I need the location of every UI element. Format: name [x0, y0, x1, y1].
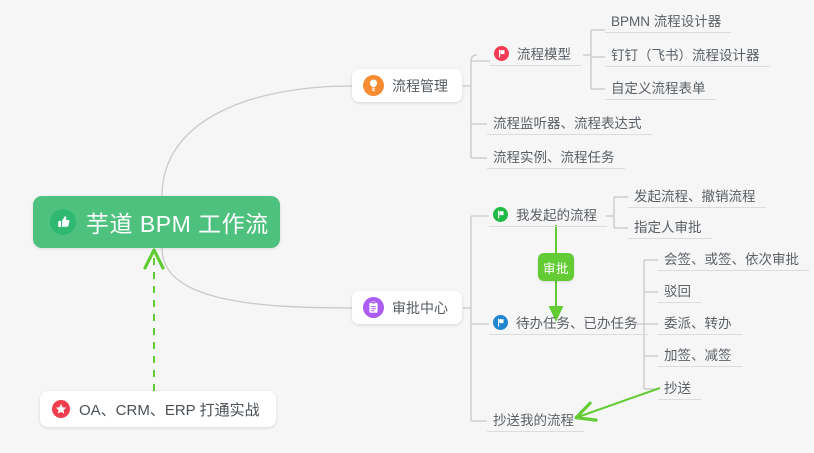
leaf-label-process-listener: 流程监听器、流程表达式: [493, 112, 642, 132]
leaf-add-remove-sign[interactable]: 加签、减签: [658, 345, 742, 367]
leaf-label-delegate-transfer: 委派、转办: [664, 312, 732, 332]
wire-process-c1: [471, 55, 490, 61]
leaf-dingtalk-designer[interactable]: 钉钉（飞书）流程设计器: [605, 45, 770, 67]
star-icon: [52, 400, 70, 418]
leaf-delegate-transfer[interactable]: 委派、转办: [658, 313, 742, 335]
leaf-label-process-model: 流程模型: [517, 43, 571, 63]
mindmap-canvas: 芋道 BPM 工作流 流程管理 审批中心: [0, 0, 814, 453]
lightbulb-icon: [363, 75, 384, 96]
clipboard-icon: [363, 297, 384, 318]
leaf-reject[interactable]: 驳回: [658, 281, 701, 303]
leaf-label-start-cancel-process: 发起流程、撤销流程: [634, 185, 756, 205]
leaf-label-add-remove-sign: 加签、减签: [664, 344, 732, 364]
approval-flow-pill-label: 审批: [543, 258, 569, 277]
leaf-assignee-approval[interactable]: 指定人审批: [628, 217, 712, 239]
leaf-label-process-instance: 流程实例、流程任务: [493, 146, 615, 166]
leaf-bpmn-designer[interactable]: BPMN 流程设计器: [605, 11, 731, 33]
leaf-label-countersign: 会签、或签、依次审批: [664, 248, 799, 268]
leaf-process-listener[interactable]: 流程监听器、流程表达式: [487, 113, 652, 135]
leaf-todo-done-tasks[interactable]: 待办任务、已办任务: [489, 313, 648, 335]
branch-label-process-management: 流程管理: [392, 76, 448, 96]
leaf-cc-my-process[interactable]: 抄送我的流程: [487, 410, 584, 432]
branch-label-approval-center: 审批中心: [392, 298, 448, 318]
leaf-label-assignee-approval: 指定人审批: [634, 216, 702, 236]
wire-green-cc: [578, 388, 660, 417]
leaf-cc[interactable]: 抄送: [658, 378, 701, 400]
leaf-start-cancel-process[interactable]: 发起流程、撤销流程: [628, 186, 766, 208]
leaf-my-started-process[interactable]: 我发起的流程: [489, 205, 607, 227]
root-label: 芋道 BPM 工作流: [86, 205, 269, 239]
leaf-label-todo-done-tasks: 待办任务、已办任务: [516, 312, 638, 332]
leaf-process-instance[interactable]: 流程实例、流程任务: [487, 147, 625, 169]
flag-icon-blue: [493, 315, 508, 330]
leaf-label-reject: 驳回: [664, 280, 691, 300]
root-node[interactable]: 芋道 BPM 工作流: [33, 196, 280, 248]
branch-node-process-management[interactable]: 流程管理: [352, 69, 462, 102]
wire-root-to-approval: [162, 248, 352, 308]
leaf-countersign[interactable]: 会签、或签、依次审批: [658, 249, 809, 271]
callout-label-integration: OA、CRM、ERP 打通实战: [79, 399, 260, 420]
leaf-custom-form[interactable]: 自定义流程表单: [605, 78, 716, 100]
leaf-label-bpmn-designer: BPMN 流程设计器: [611, 10, 721, 30]
thumbs-up-icon: [50, 209, 76, 235]
leaf-label-custom-form: 自定义流程表单: [611, 77, 706, 97]
leaf-process-model[interactable]: 流程模型: [490, 44, 581, 66]
branch-node-approval-center[interactable]: 审批中心: [352, 291, 462, 324]
flag-icon-red: [494, 46, 509, 61]
leaf-label-cc-my-process: 抄送我的流程: [493, 409, 574, 429]
leaf-label-my-started-process: 我发起的流程: [516, 204, 597, 224]
leaf-label-cc: 抄送: [664, 377, 691, 397]
leaf-label-dingtalk-designer: 钉钉（飞书）流程设计器: [611, 44, 760, 64]
wire-root-to-process: [162, 86, 352, 196]
callout-node-integration[interactable]: OA、CRM、ERP 打通实战: [40, 391, 276, 427]
flag-icon-green: [493, 207, 508, 222]
approval-flow-pill[interactable]: 审批: [538, 253, 574, 281]
